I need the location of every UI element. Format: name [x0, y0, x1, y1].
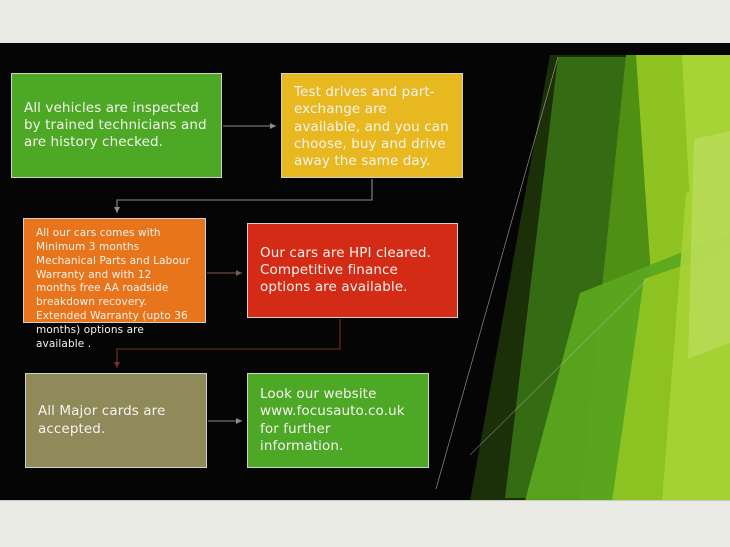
letterbox-bottom	[0, 501, 730, 547]
letterbox-top	[0, 0, 730, 43]
connector-testdrive-to-warranty	[117, 179, 372, 213]
flow-node-inspection-text: All vehicles are inspected by trained te…	[24, 100, 209, 152]
flow-node-inspection[interactable]: All vehicles are inspected by trained te…	[11, 73, 222, 178]
flow-node-major-cards-text: All Major cards are accepted.	[38, 403, 194, 438]
flow-node-major-cards[interactable]: All Major cards are accepted.	[25, 373, 207, 468]
green-polygon-artwork	[430, 43, 730, 501]
flow-node-hpi-cleared[interactable]: Our cars are HPI cleared. Competitive fi…	[247, 223, 458, 318]
flow-node-website-text: Look our website www.focusauto.co.uk for…	[260, 386, 416, 455]
flow-node-test-drives[interactable]: Test drives and part-exchange are availa…	[281, 73, 463, 178]
flow-node-test-drives-text: Test drives and part-exchange are availa…	[294, 84, 450, 170]
flow-node-website[interactable]: Look our website www.focusauto.co.uk for…	[247, 373, 429, 468]
flow-node-warranty-text: All our cars comes with Minimum 3 months…	[36, 227, 193, 352]
slide-canvas: All vehicles are inspected by trained te…	[0, 43, 730, 501]
slide-page: All vehicles are inspected by trained te…	[0, 0, 730, 547]
flow-node-warranty[interactable]: All our cars comes with Minimum 3 months…	[23, 218, 206, 323]
flow-node-hpi-cleared-text: Our cars are HPI cleared. Competitive fi…	[260, 245, 445, 297]
